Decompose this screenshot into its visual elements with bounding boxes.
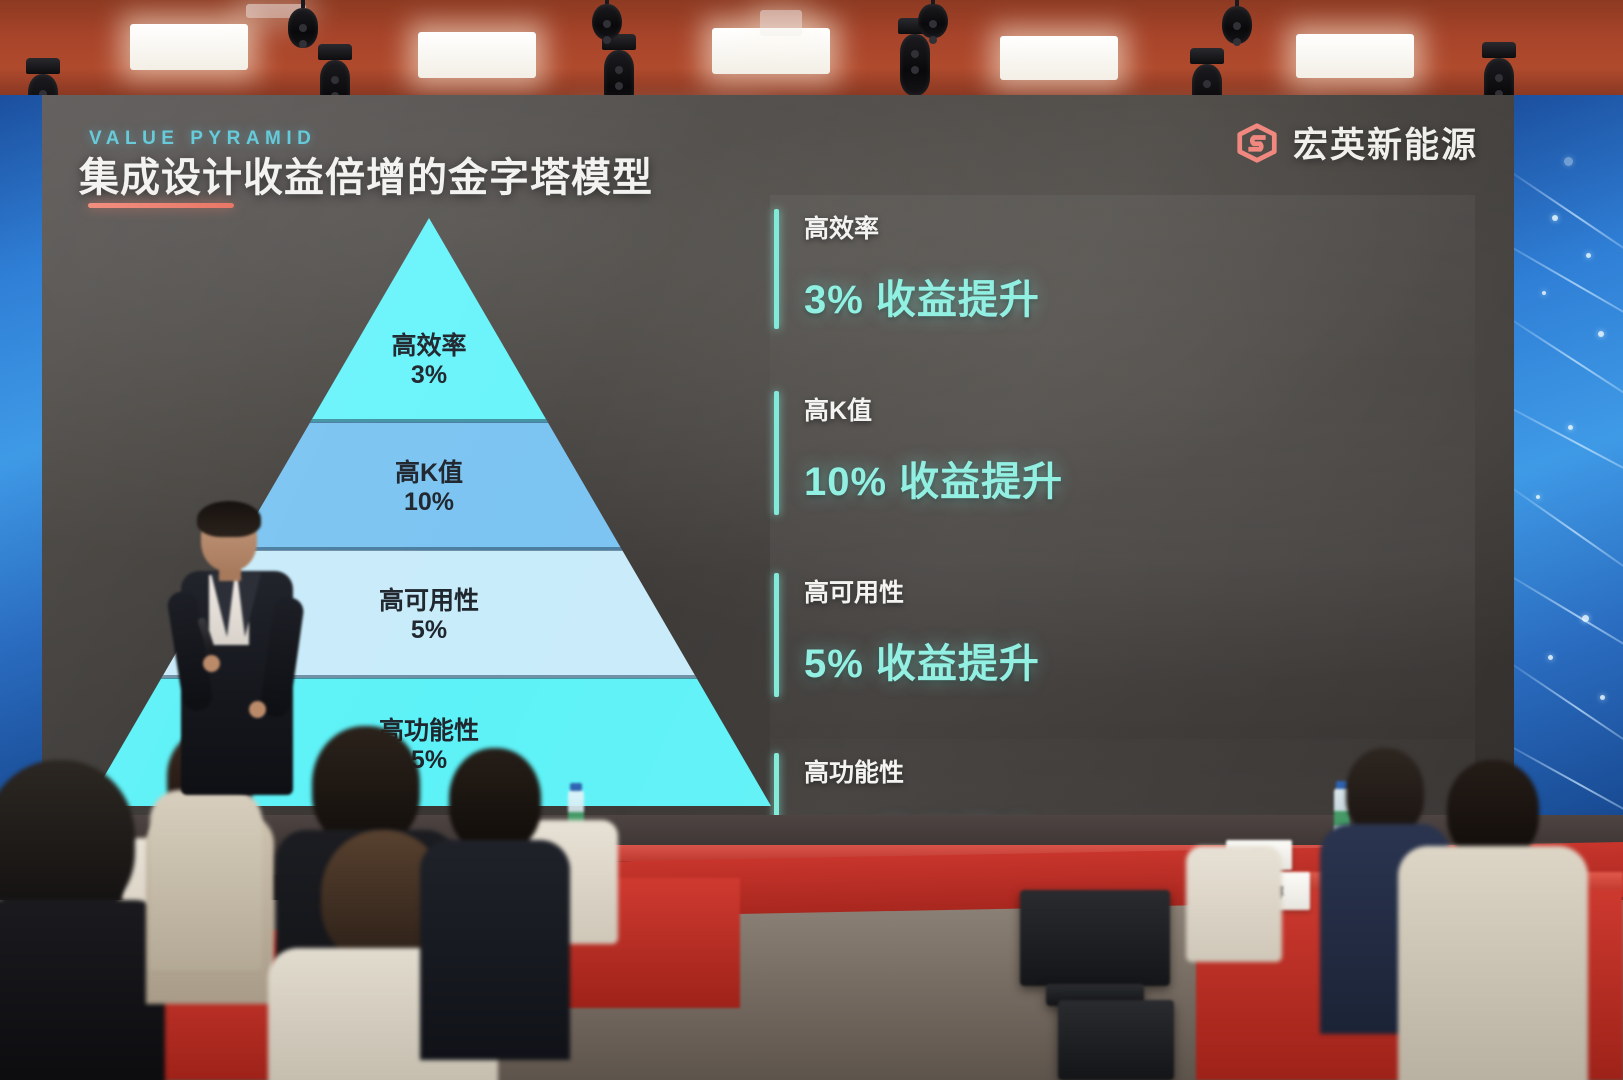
left-led-wall: [0, 95, 44, 815]
audience-member: [420, 748, 570, 1048]
hexagon-s-logo-icon: [1235, 122, 1279, 164]
pyramid-tier-3-value: 5%: [411, 616, 447, 646]
card-accent-bar: [774, 209, 779, 329]
pyramid-tier-2-label: 高K值: [395, 459, 463, 489]
banquet-chair: [1186, 846, 1282, 962]
right-led-wall: [1512, 95, 1623, 815]
pyramid-tier-1: 高效率 3%: [79, 306, 779, 416]
conference-room-scene: VALUE PYRAMID 集成设计收益倍增的金字塔模型 宏英新能源: [0, 0, 1623, 1080]
stage-monitor-display: [1020, 890, 1170, 986]
benefit-card-high-efficiency: 高效率 3% 收益提升: [770, 195, 1475, 377]
benefit-card-value: 10% 收益提升: [804, 449, 1475, 507]
card-accent-bar: [774, 573, 779, 697]
benefit-card-label: 高效率: [804, 209, 1475, 245]
pyramid-tier-1-label: 高效率: [391, 332, 466, 362]
stage-light-fixture: [590, 0, 624, 40]
ceiling-light-panel: [1296, 34, 1414, 78]
title-underline-rule: [88, 203, 234, 208]
benefit-card-value: 3% 收益提升: [804, 267, 1475, 325]
slide-title: 集成设计收益倍增的金字塔模型: [79, 145, 653, 203]
card-accent-bar: [774, 753, 779, 817]
pyramid-tier-2-value: 10%: [404, 488, 454, 518]
benefit-card-value: 5% 收益提升: [804, 631, 1475, 689]
audience-member: [0, 760, 160, 1080]
benefit-cards-list: 高效率 3% 收益提升 高K值 10% 收益提升 高可用性 5% 收益提升 高功…: [770, 195, 1475, 817]
benefit-card-high-k-value: 高K值 10% 收益提升: [770, 377, 1475, 559]
ceiling-light-panel: [760, 10, 802, 36]
equipment-case: [1058, 1000, 1174, 1080]
audience-member: [1398, 760, 1588, 1080]
stage-light-fixture: [286, 0, 320, 48]
brand-lockup: 宏英新能源: [1235, 117, 1478, 168]
card-accent-bar: [774, 391, 779, 515]
benefit-card-label: 高可用性: [804, 573, 1475, 609]
brand-name: 宏英新能源: [1293, 117, 1478, 168]
stage-light-fixture: [1220, 0, 1254, 44]
ceiling-light-panel: [1000, 36, 1118, 80]
audience-member: [150, 790, 262, 970]
ceiling-light-panel: [130, 24, 248, 70]
presenter-speaker: [175, 505, 305, 795]
pyramid-tier-3-label: 高可用性: [379, 587, 479, 617]
pyramid-tier-1-value: 3%: [411, 361, 447, 391]
benefit-card-high-availability: 高可用性 5% 收益提升: [770, 559, 1475, 739]
stage-light-fixture: [916, 0, 950, 38]
ceiling-light-panel: [418, 32, 536, 78]
benefit-card-label: 高K值: [804, 391, 1475, 427]
